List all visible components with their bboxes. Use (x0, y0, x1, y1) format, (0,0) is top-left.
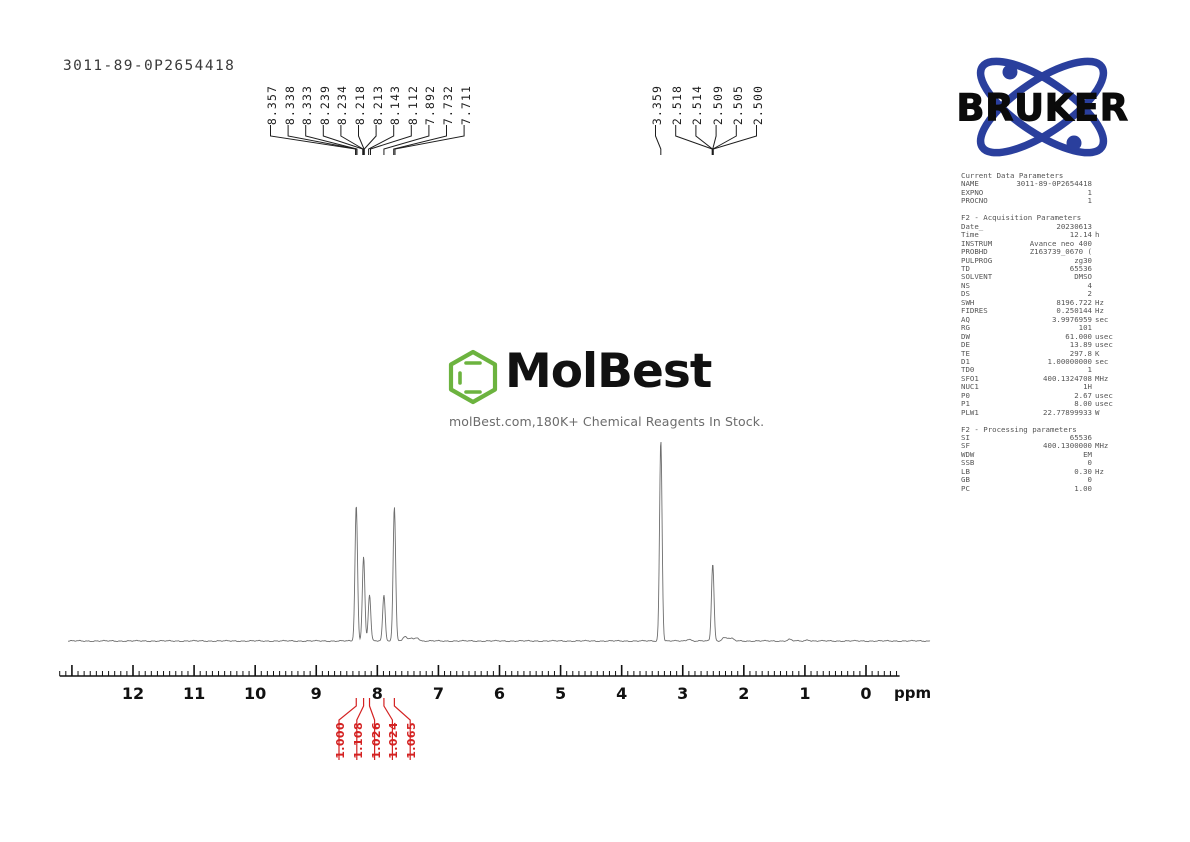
integral-value: 1.026 (370, 722, 383, 759)
integral-value: 1.065 (405, 722, 418, 759)
integral-value: 1.108 (352, 722, 365, 759)
integral-value: 1.000 (334, 722, 347, 759)
integral-labels: 1.0001.1081.0261.0241.065 (0, 0, 1190, 842)
integral-value: 1.024 (387, 722, 400, 759)
